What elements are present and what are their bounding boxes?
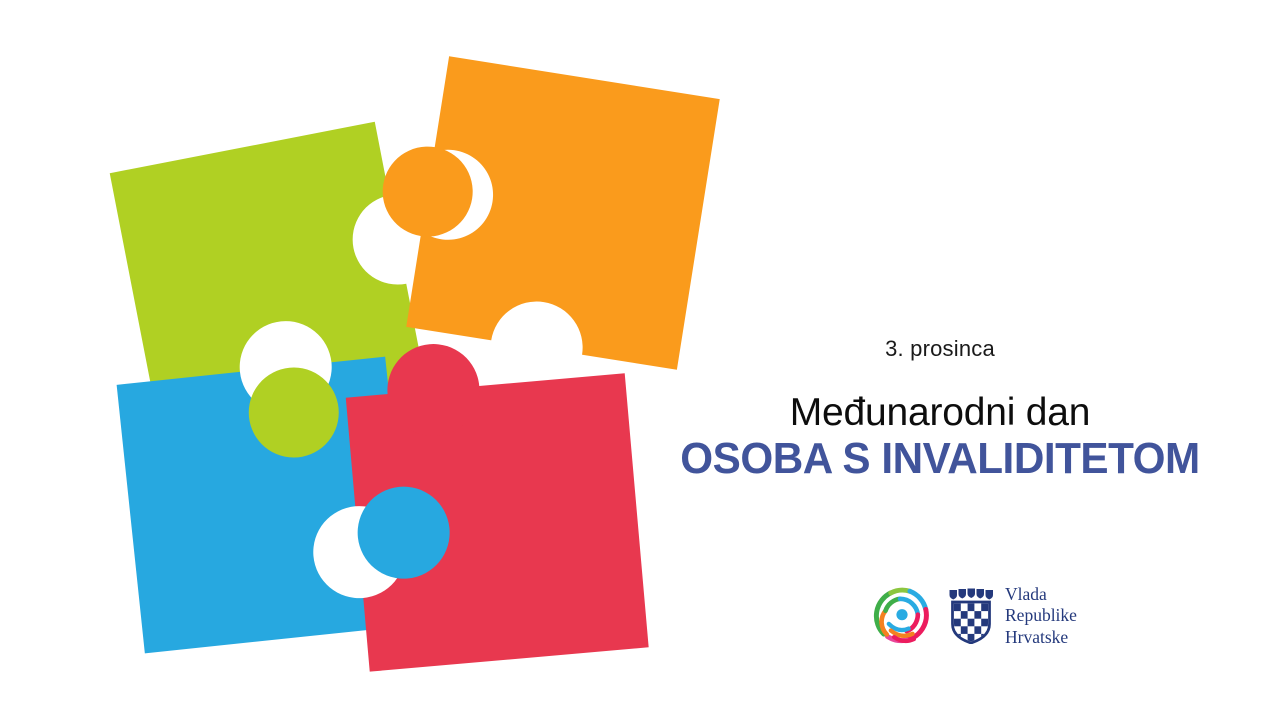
slide-canvas: 3. prosinca Međunarodni dan OSOBA S INVA… [0,0,1280,720]
wordmark-line-3: Hrvatske [1005,627,1077,648]
government-logo-lockup: Vlada Republike Hrvatske [869,583,1077,649]
page-subtitle: OSOBA S INVALIDITETOM [671,437,1209,481]
wordmark-line-1: Vlada [1005,584,1077,605]
croatian-coat-of-arms [948,588,994,644]
emblem-center-dot [896,609,907,620]
date-label: 3. prosinca [660,338,1220,360]
wordmark-line-2: Republike [1005,605,1077,626]
government-wordmark: Vlada Republike Hrvatske [1005,584,1077,648]
puzzle-pieces-illustration [0,0,720,720]
coa-crown [950,589,994,600]
title-text-block: 3. prosinca Međunarodni dan OSOBA S INVA… [660,338,1220,481]
page-title: Međunarodni dan [660,393,1220,432]
puzzle-svg [0,0,720,720]
inclusion-circle-emblem [869,583,935,649]
